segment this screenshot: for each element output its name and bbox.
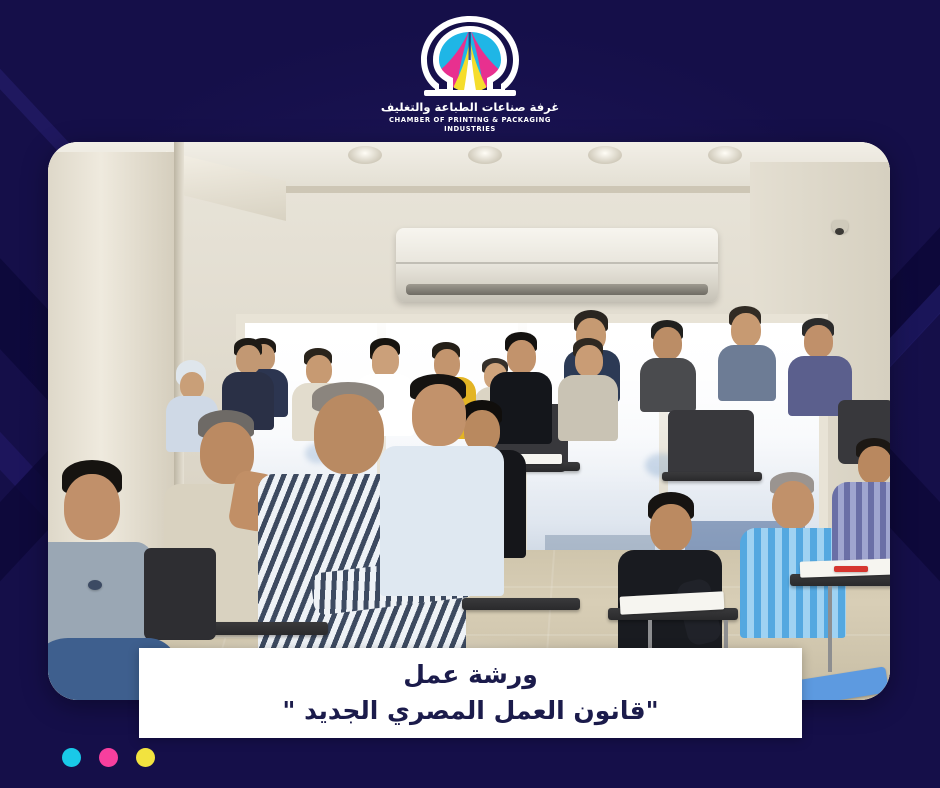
photo-content	[48, 142, 890, 700]
ceiling-downlight-icon	[708, 146, 742, 164]
brand-logo: غرفة صناعات الطباعة والتغليف CHAMBER OF …	[365, 14, 575, 133]
tablet-arm-desk	[462, 598, 580, 610]
air-conditioner-icon	[396, 228, 718, 302]
poster-canvas: غرفة صناعات الطباعة والتغليف CHAMBER OF …	[0, 0, 940, 788]
chair-back	[668, 410, 754, 480]
ac-vent	[406, 284, 708, 295]
caption-line-1: ورشة عمل	[403, 659, 538, 690]
ac-seam	[396, 262, 718, 264]
ceiling-downlight-icon	[588, 146, 622, 164]
workshop-audience-photo	[48, 142, 890, 700]
logo-name-arabic: غرفة صناعات الطباعة والتغليف	[365, 100, 575, 114]
caption-card: ورشة عمل "قانون العمل المصري الجديد "	[139, 648, 802, 738]
caption-line-2: "قانون العمل المصري الجديد "	[282, 695, 658, 728]
logo-name-english: CHAMBER OF PRINTING & PACKAGING INDUSTRI…	[365, 116, 575, 132]
pen-on-desk	[834, 566, 868, 572]
chair-back	[144, 548, 216, 640]
polo-logo	[88, 580, 102, 590]
cmyk-dot-cyan	[62, 748, 81, 767]
tablet-arm-desk	[662, 472, 762, 481]
security-camera-icon	[832, 220, 848, 233]
chair-leg	[828, 586, 832, 672]
ceiling-downlight-icon	[468, 146, 502, 164]
cmyk-dot-magenta	[99, 748, 118, 767]
cmyk-dot-group	[62, 748, 155, 767]
cmyk-dot-yellow	[136, 748, 155, 767]
chamber-omega-logo-icon	[410, 14, 530, 98]
ceiling-downlight-icon	[348, 146, 382, 164]
